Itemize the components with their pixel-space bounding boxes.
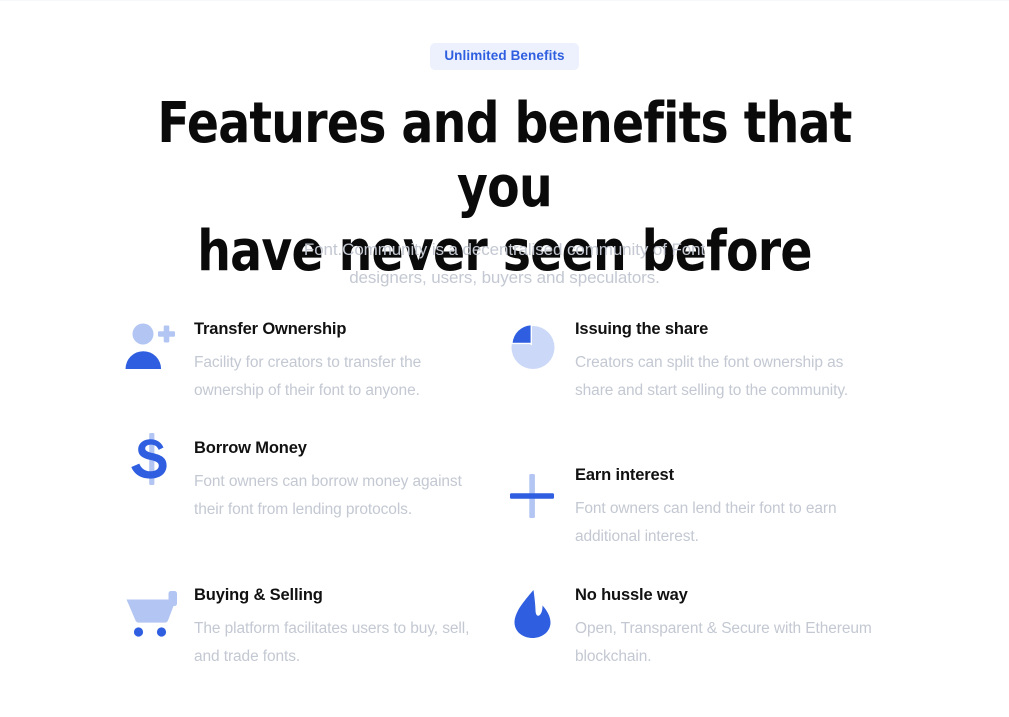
feature-item-buying-selling: Buying & Selling The platform facilitate… <box>124 584 514 671</box>
feature-body: Buying & Selling The platform facilitate… <box>194 584 514 671</box>
top-divider <box>0 0 1009 1</box>
shopping-cart-icon <box>124 586 180 642</box>
features-grid: Transfer Ownership Facility for creators… <box>0 316 1009 686</box>
feature-body: Issuing the share Creators can split the… <box>575 318 895 405</box>
benefits-section: Unlimited Benefits Features and benefits… <box>0 0 1009 717</box>
feature-item-transfer-ownership: Transfer Ownership Facility for creators… <box>124 318 514 405</box>
feature-description: The platform facilitates users to buy, s… <box>194 615 484 671</box>
feature-title: Transfer Ownership <box>194 318 514 340</box>
feature-body: Transfer Ownership Facility for creators… <box>194 318 514 405</box>
feature-body: Earn interest Font owners can lend their… <box>575 464 895 551</box>
feature-title: No hussle way <box>575 584 895 606</box>
page-subtitle-line-1: Font.Community is a decentralised commun… <box>304 240 705 259</box>
feature-item-issuing-the-share: Issuing the share Creators can split the… <box>505 318 895 405</box>
feature-title: Earn interest <box>575 464 895 486</box>
feature-item-earn-interest: Earn interest Font owners can lend their… <box>505 464 895 551</box>
page-subtitle-line-2: designers, users, buyers and speculators… <box>349 268 660 287</box>
page-subtitle: Font.Community is a decentralised commun… <box>204 236 805 292</box>
badge-row: Unlimited Benefits <box>0 43 1009 70</box>
flame-icon <box>505 586 561 642</box>
feature-title: Buying & Selling <box>194 584 514 606</box>
feature-item-borrow-money: Borrow Money Font owners can borrow mone… <box>124 437 514 524</box>
feature-title: Borrow Money <box>194 437 514 459</box>
feature-item-no-hussle-way: No hussle way Open, Transparent & Secure… <box>505 584 895 671</box>
feature-title: Issuing the share <box>575 318 895 340</box>
feature-body: No hussle way Open, Transparent & Secure… <box>575 584 895 671</box>
feature-description: Font owners can borrow money against the… <box>194 468 484 524</box>
feature-description: Open, Transparent & Secure with Ethereum… <box>575 615 875 671</box>
feature-body: Borrow Money Font owners can borrow mone… <box>194 437 514 524</box>
plus-icon <box>505 468 561 524</box>
dollar-sign-icon <box>124 431 180 487</box>
feature-description: Font owners can lend their font to earn … <box>575 495 875 551</box>
pie-chart-icon <box>505 318 561 374</box>
feature-description: Creators can split the font ownership as… <box>575 349 875 405</box>
page-title-line-1: Features and benefits that you <box>157 91 851 220</box>
feature-description: Facility for creators to transfer the ow… <box>194 349 484 405</box>
user-plus-icon <box>124 318 180 374</box>
status-badge: Unlimited Benefits <box>430 43 578 70</box>
